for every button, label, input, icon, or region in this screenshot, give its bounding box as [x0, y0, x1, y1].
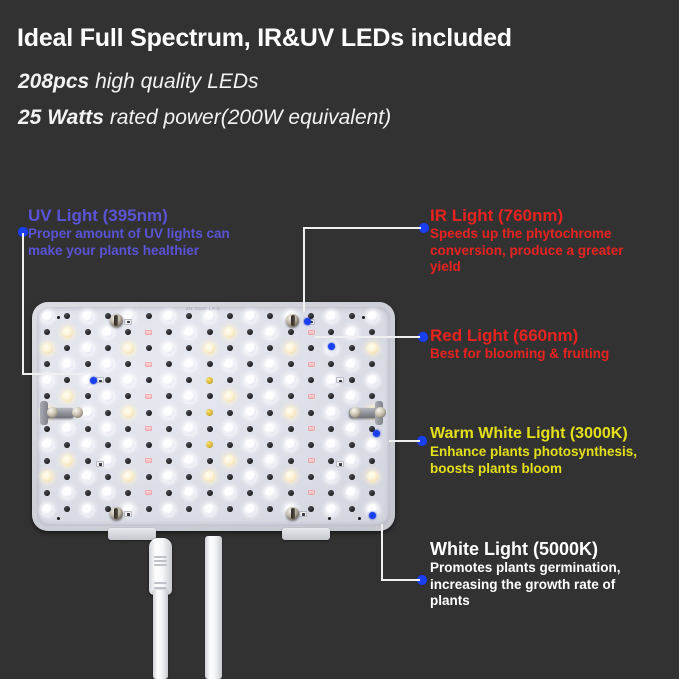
led-blue-indicator	[328, 343, 335, 350]
callout-white-title: White Light (5000K)	[430, 540, 621, 559]
led-dark-emitter	[166, 361, 172, 367]
led-white	[82, 471, 93, 482]
led-dark-emitter	[105, 474, 111, 480]
callout-ir-light: IR Light (760nm) Speeds up the phytochro…	[430, 207, 624, 275]
led-dark-emitter	[44, 393, 50, 399]
leader-line-uv-vertical	[22, 233, 24, 374]
power-plug	[149, 538, 172, 595]
led-dark-emitter	[227, 377, 233, 383]
mount-nut-right-outer	[375, 407, 386, 418]
led-dark-emitter	[349, 345, 355, 351]
led-white	[102, 455, 113, 466]
led-white	[326, 407, 337, 418]
led-dark-emitter	[166, 329, 172, 335]
cable-socket-left	[108, 528, 156, 540]
led-warm-white	[204, 471, 215, 482]
leader-line-ir-horizontal	[303, 227, 421, 229]
led-white	[184, 487, 195, 498]
led-white	[102, 327, 113, 338]
led-dark-emitter	[328, 426, 334, 432]
led-warm-white	[224, 391, 235, 402]
leader-line-red-horizontal	[315, 336, 420, 338]
panel-pin-hole	[57, 316, 60, 319]
led-dark-emitter	[227, 410, 233, 416]
led-dark-emitter	[85, 393, 91, 399]
led-warm-white	[224, 455, 235, 466]
led-white	[42, 504, 53, 515]
led-white	[285, 375, 296, 386]
led-red-chip	[145, 394, 152, 399]
led-white	[163, 375, 174, 386]
led-driver-marker	[124, 319, 132, 325]
led-dark-emitter	[44, 361, 50, 367]
led-white	[245, 439, 256, 450]
led-red-chip	[308, 426, 315, 431]
led-dark-emitter	[146, 506, 152, 512]
led-dark-emitter	[64, 313, 70, 319]
led-white	[367, 375, 378, 386]
led-driver-marker	[96, 461, 104, 467]
led-red-chip	[145, 490, 152, 495]
led-dark-emitter	[44, 490, 50, 496]
callout-warm-white-title: Warm White Light (3000K)	[430, 426, 637, 443]
callout-red-light: Red Light (660nm) Best for blooming & fr…	[430, 327, 609, 362]
led-warm-white	[62, 455, 73, 466]
led-dark-emitter	[247, 426, 253, 432]
led-white	[326, 504, 337, 515]
led-yellow	[206, 377, 213, 384]
callout-warm-white-light: Warm White Light (3000K) Enhance plants …	[430, 426, 637, 476]
led-white	[163, 343, 174, 354]
led-dark-emitter	[146, 313, 152, 319]
led-white	[285, 439, 296, 450]
panel-screw	[110, 314, 123, 327]
led-white	[346, 455, 357, 466]
power-cable-right	[205, 536, 222, 679]
led-dark-emitter	[85, 490, 91, 496]
led-white	[82, 343, 93, 354]
led-white	[326, 439, 337, 450]
led-dark-emitter	[369, 393, 375, 399]
led-dark-emitter	[207, 426, 213, 432]
callout-white-desc-2: increasing the growth rate of	[430, 577, 621, 593]
led-dark-emitter	[125, 490, 131, 496]
led-dark-emitter	[247, 458, 253, 464]
led-white	[224, 359, 235, 370]
led-dark-emitter	[186, 506, 192, 512]
led-grid	[37, 307, 390, 526]
led-dark-emitter	[186, 345, 192, 351]
led-red-chip	[145, 362, 152, 367]
led-white	[367, 311, 378, 322]
led-red-chip	[145, 426, 152, 431]
mount-nut-left-inner	[72, 407, 83, 418]
led-white	[265, 423, 276, 434]
led-white	[82, 439, 93, 450]
mount-nut-right-inner	[350, 407, 361, 418]
led-dark-emitter	[308, 506, 314, 512]
product-infographic: Ideal Full Spectrum, IR&UV LEDs included…	[0, 0, 679, 679]
led-warm-white	[367, 471, 378, 482]
led-white	[62, 487, 73, 498]
led-dark-emitter	[308, 345, 314, 351]
led-dark-emitter	[105, 410, 111, 416]
led-panel-face	[37, 307, 390, 526]
led-red-chip	[308, 330, 315, 335]
panel-pin-hole	[362, 316, 365, 319]
led-dark-emitter	[186, 474, 192, 480]
led-warm-white	[123, 343, 134, 354]
led-dark-emitter	[247, 393, 253, 399]
led-dark-emitter	[166, 426, 172, 432]
panel-pin-hole	[358, 517, 361, 520]
led-dark-emitter	[288, 458, 294, 464]
led-warm-white	[42, 343, 53, 354]
led-white	[346, 391, 357, 402]
leader-line-uv-horizontal	[22, 373, 83, 375]
led-dark-emitter	[207, 393, 213, 399]
panel-pin-hole	[328, 517, 331, 520]
led-dark-emitter	[207, 458, 213, 464]
led-driver-marker	[336, 461, 344, 467]
led-warm-white	[204, 343, 215, 354]
led-dark-emitter	[85, 458, 91, 464]
led-white	[245, 375, 256, 386]
led-dark-emitter	[227, 506, 233, 512]
led-dark-emitter	[227, 313, 233, 319]
led-dark-emitter	[267, 506, 273, 512]
leader-line-white-horizontal	[381, 579, 420, 581]
led-dark-emitter	[207, 361, 213, 367]
led-dark-emitter	[288, 426, 294, 432]
led-white	[102, 359, 113, 370]
led-dark-emitter	[349, 442, 355, 448]
led-dark-emitter	[267, 377, 273, 383]
led-dark-emitter	[227, 474, 233, 480]
led-white	[163, 504, 174, 515]
led-dark-emitter	[64, 377, 70, 383]
led-white	[265, 391, 276, 402]
led-white	[265, 359, 276, 370]
led-white	[184, 327, 195, 338]
led-dark-emitter	[146, 474, 152, 480]
led-dark-emitter	[125, 393, 131, 399]
led-white	[245, 311, 256, 322]
led-dark-emitter	[328, 361, 334, 367]
leader-line-ir-vertical	[303, 227, 305, 312]
led-warm-white	[285, 471, 296, 482]
led-dark-emitter	[227, 442, 233, 448]
callout-uv-desc-2: make your plants healthier	[28, 243, 230, 259]
led-white	[123, 439, 134, 450]
led-dark-emitter	[166, 393, 172, 399]
callout-red-title: Red Light (660nm)	[430, 327, 609, 345]
led-white	[204, 311, 215, 322]
led-dark-emitter	[369, 329, 375, 335]
led-dark-emitter	[349, 313, 355, 319]
leader-line-white-vertical	[381, 524, 383, 581]
led-warm-white	[123, 471, 134, 482]
led-white	[42, 439, 53, 450]
led-driver-marker	[299, 511, 307, 517]
led-dark-emitter	[44, 458, 50, 464]
led-dark-emitter	[44, 426, 50, 432]
led-dark-emitter	[105, 345, 111, 351]
panel-screw	[110, 507, 123, 520]
panel-screw	[286, 507, 299, 520]
led-white	[245, 343, 256, 354]
led-dark-emitter	[64, 442, 70, 448]
led-white	[82, 504, 93, 515]
led-white	[102, 391, 113, 402]
led-dark-emitter	[85, 329, 91, 335]
led-white	[326, 311, 337, 322]
led-dark-emitter	[267, 345, 273, 351]
callout-ir-desc-3: yield	[430, 259, 624, 275]
led-dark-emitter	[146, 442, 152, 448]
callout-warm-white-desc-1: Enhance plants photosynthesis,	[430, 444, 637, 460]
led-dark-emitter	[328, 458, 334, 464]
led-white	[42, 375, 53, 386]
led-white	[224, 487, 235, 498]
led-dark-emitter	[125, 458, 131, 464]
led-dark-emitter	[125, 426, 131, 432]
spec-led-count-value: 208pcs	[18, 70, 89, 93]
led-blue-indicator	[369, 512, 376, 519]
led-blue-indicator	[304, 318, 311, 325]
led-dark-emitter	[85, 426, 91, 432]
led-dark-emitter	[349, 377, 355, 383]
led-dark-emitter	[328, 329, 334, 335]
led-dark-emitter	[186, 377, 192, 383]
led-warm-white	[62, 391, 73, 402]
led-dark-emitter	[349, 506, 355, 512]
led-white	[265, 327, 276, 338]
led-dark-emitter	[166, 490, 172, 496]
led-white	[184, 455, 195, 466]
panel-model-code: ZH-C030-LA-0	[186, 306, 220, 311]
led-white	[184, 391, 195, 402]
page-title: Ideal Full Spectrum, IR&UV LEDs included	[17, 24, 512, 53]
led-white	[265, 487, 276, 498]
led-dark-emitter	[125, 329, 131, 335]
led-dark-emitter	[288, 361, 294, 367]
led-dark-emitter	[64, 474, 70, 480]
led-dark-emitter	[105, 442, 111, 448]
led-white	[346, 487, 357, 498]
led-dark-emitter	[247, 490, 253, 496]
led-dark-emitter	[328, 490, 334, 496]
led-dark-emitter	[64, 345, 70, 351]
led-blue-indicator	[90, 377, 97, 384]
callout-white-light: White Light (5000K) Promotes plants germ…	[430, 540, 621, 609]
led-dark-emitter	[308, 377, 314, 383]
led-red-chip	[145, 330, 152, 335]
callout-warm-white-desc-2: boosts plants bloom	[430, 461, 637, 477]
led-dark-emitter	[369, 458, 375, 464]
led-dark-emitter	[146, 410, 152, 416]
spec-led-count-text: high quality LEDs	[89, 70, 258, 93]
led-white	[102, 487, 113, 498]
led-red-chip	[145, 458, 152, 463]
callout-uv-desc-1: Proper amount of UV lights can	[28, 226, 230, 242]
led-white	[123, 375, 134, 386]
led-dark-emitter	[288, 393, 294, 399]
led-warm-white	[224, 327, 235, 338]
led-dark-emitter	[247, 329, 253, 335]
led-white	[82, 311, 93, 322]
led-dark-emitter	[166, 458, 172, 464]
led-white	[326, 471, 337, 482]
led-warm-white	[285, 407, 296, 418]
led-dark-emitter	[328, 393, 334, 399]
led-dark-emitter	[308, 410, 314, 416]
led-dark-emitter	[207, 329, 213, 335]
led-dark-emitter	[247, 361, 253, 367]
led-white	[245, 504, 256, 515]
led-white	[163, 439, 174, 450]
led-yellow	[206, 409, 213, 416]
led-dark-emitter	[288, 329, 294, 335]
led-dark-emitter	[64, 506, 70, 512]
led-white	[265, 455, 276, 466]
led-white	[245, 471, 256, 482]
led-yellow	[206, 441, 213, 448]
led-warm-white	[123, 407, 134, 418]
spec-power-text: rated power(200W equivalent)	[104, 106, 391, 129]
led-dark-emitter	[105, 377, 111, 383]
spec-power-value: 25 Watts	[18, 106, 104, 129]
led-warm-white	[42, 471, 53, 482]
leader-line-warm-white-horizontal	[389, 440, 420, 442]
led-white	[102, 423, 113, 434]
led-blue-indicator	[373, 430, 380, 437]
led-red-chip	[308, 362, 315, 367]
led-white	[204, 504, 215, 515]
led-dark-emitter	[207, 490, 213, 496]
cable-socket-right	[282, 528, 330, 540]
led-white	[346, 359, 357, 370]
led-dark-emitter	[44, 329, 50, 335]
led-dark-emitter	[85, 361, 91, 367]
callout-ir-desc-1: Speeds up the phytochrome	[430, 226, 624, 242]
led-white	[184, 359, 195, 370]
led-dark-emitter	[146, 377, 152, 383]
led-white	[367, 439, 378, 450]
led-dark-emitter	[186, 442, 192, 448]
led-white	[42, 311, 53, 322]
led-warm-white	[367, 343, 378, 354]
led-white	[82, 407, 93, 418]
led-dark-emitter	[186, 313, 192, 319]
led-dark-emitter	[267, 410, 273, 416]
led-dark-emitter	[369, 490, 375, 496]
led-red-chip	[308, 490, 315, 495]
led-dark-emitter	[186, 410, 192, 416]
led-dark-emitter	[349, 474, 355, 480]
led-white	[346, 423, 357, 434]
led-dark-emitter	[267, 442, 273, 448]
led-white	[62, 423, 73, 434]
led-white	[163, 407, 174, 418]
led-red-chip	[308, 458, 315, 463]
callout-ir-title: IR Light (760nm)	[430, 207, 624, 225]
led-white	[62, 359, 73, 370]
led-dark-emitter	[227, 345, 233, 351]
led-dark-emitter	[267, 313, 273, 319]
led-dark-emitter	[125, 361, 131, 367]
mount-nut-left-outer	[47, 407, 58, 418]
led-dark-emitter	[369, 361, 375, 367]
led-warm-white	[62, 327, 73, 338]
spec-line-power: 25 Watts rated power(200W equivalent)	[18, 106, 391, 130]
led-white	[224, 423, 235, 434]
led-dark-emitter	[267, 474, 273, 480]
led-white	[245, 407, 256, 418]
led-red-chip	[308, 394, 315, 399]
callout-uv-light: UV Light (395nm) Proper amount of UV lig…	[28, 207, 230, 258]
led-dark-emitter	[288, 490, 294, 496]
led-white	[163, 311, 174, 322]
callout-ir-desc-2: conversion, produce a greater	[430, 243, 624, 259]
callout-uv-title: UV Light (395nm)	[28, 207, 230, 225]
callout-white-desc-3: plants	[430, 593, 621, 609]
led-warm-white	[285, 343, 296, 354]
panel-pin-hole	[57, 517, 60, 520]
spec-line-led-count: 208pcs high quality LEDs	[18, 70, 259, 94]
callout-red-desc-1: Best for blooming & fruiting	[430, 346, 609, 362]
led-driver-marker	[336, 377, 344, 383]
led-driver-marker	[124, 511, 132, 517]
led-dark-emitter	[146, 345, 152, 351]
panel-screw	[286, 314, 299, 327]
led-dark-emitter	[308, 474, 314, 480]
led-white	[184, 423, 195, 434]
led-white	[163, 471, 174, 482]
power-cable-left	[153, 590, 168, 679]
led-dark-emitter	[308, 442, 314, 448]
callout-white-desc-1: Promotes plants germination,	[430, 560, 621, 576]
